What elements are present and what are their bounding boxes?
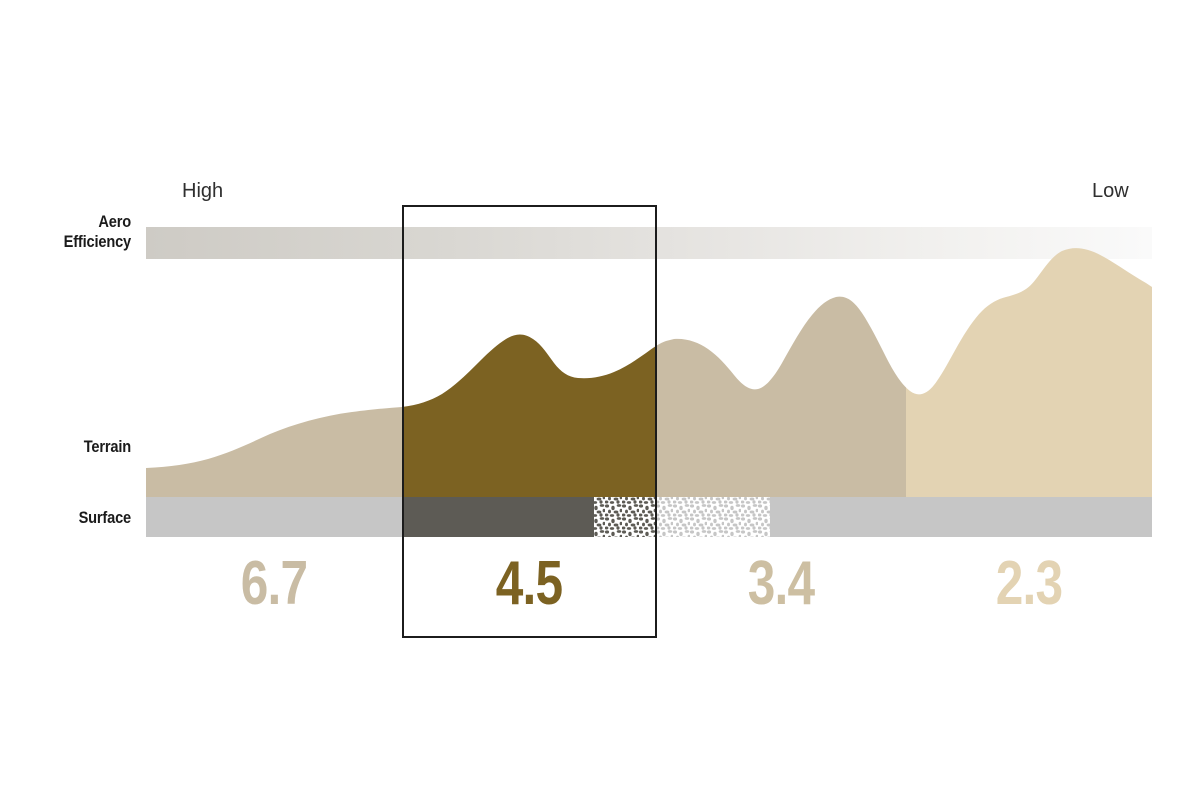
surface-bar-selected (402, 497, 594, 537)
scale-label-high: High (182, 180, 223, 203)
profile-svg (146, 205, 1152, 540)
row-label-aero-efficiency: Aero Efficiency (0, 212, 131, 252)
segment-score-2: 4.5 (441, 553, 617, 615)
row-label-aero-line2: Efficiency (0, 232, 131, 252)
terrain-profile-plot (146, 205, 1152, 540)
gravel-zone-dark (594, 497, 657, 537)
aero-efficiency-band (146, 227, 1152, 259)
segment-score-1: 6.7 (186, 553, 362, 615)
segment-score-3: 3.4 (693, 553, 869, 615)
infographic-canvas: Aero Efficiency Terrain Surface High Low (0, 0, 1199, 800)
scale-label-low: Low (1092, 180, 1129, 203)
segment-score-4: 2.3 (941, 553, 1117, 615)
row-label-terrain: Terrain (0, 437, 131, 457)
row-label-surface: Surface (0, 508, 131, 528)
gravel-zone-light (657, 497, 770, 537)
row-label-aero-line1: Aero (98, 212, 131, 231)
